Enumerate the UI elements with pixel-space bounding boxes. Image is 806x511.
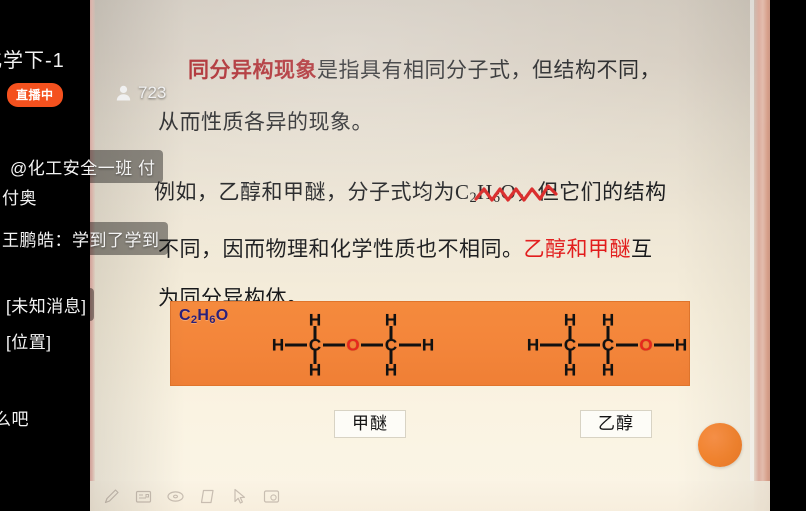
keyword-isomerism: 同分异构现象 — [188, 58, 317, 82]
label-dimethyl-ether: 甲醚 — [334, 410, 406, 438]
atom-c: C — [564, 337, 576, 354]
atom-c: C — [309, 337, 321, 354]
atom-h: H — [309, 312, 321, 329]
page-title: 化学下-1 — [0, 44, 150, 73]
cursor-icon[interactable] — [230, 487, 249, 506]
atom-h: H — [272, 337, 284, 354]
page-right-rule — [754, 0, 770, 511]
p2-l1-c: O，但它们的结构 — [500, 180, 666, 204]
atom-c: C — [602, 337, 614, 354]
paragraph-1-line-1-rest: 是指具有相同分子式，但结构不同， — [317, 58, 661, 82]
chat-message: [位置] — [0, 324, 59, 357]
label-ethanol: 乙醇 — [580, 410, 652, 438]
bond-h-left-2 — [323, 344, 345, 347]
paragraph-1-line-2: 从而性质各异的现象。 — [158, 94, 373, 151]
viewer-count-value: 723 — [138, 83, 166, 103]
ethanol-structure: H C C O H H H H H — [526, 302, 686, 387]
bond-h-right-4 — [654, 344, 674, 347]
text-note-icon[interactable] — [134, 487, 153, 506]
screenshot-icon[interactable] — [262, 487, 281, 506]
formula-c: C — [179, 307, 191, 324]
chat-message: @化工安全一班 付 — [2, 150, 163, 183]
chat-message: 么吧 — [0, 398, 45, 437]
formula-o: O — [216, 307, 229, 324]
atom-o: O — [346, 337, 359, 354]
paragraph-2-line-1: 例如，乙醇和甲醚，分子式均为C2H6O，但它们的结构 — [154, 164, 667, 227]
floating-action-button[interactable] — [698, 423, 742, 467]
bond-h-right-1 — [540, 344, 562, 347]
atom-h: H — [527, 337, 539, 354]
molecular-formula-label: C2H6O — [179, 307, 229, 326]
p2-l1-a: 例如，乙醇和甲醚，分子式均为C — [154, 180, 470, 204]
atom-h: H — [675, 337, 687, 354]
dimethyl-ether-structure: H C O C H H H H H — [271, 302, 446, 387]
chat-message: 付奥 — [0, 180, 45, 213]
chat-message: 王鹏皓：学到了学到 — [0, 222, 168, 255]
viewer-count: 723 — [116, 83, 166, 103]
atom-c: C — [385, 337, 397, 354]
atom-o: O — [639, 337, 652, 354]
molecule-structure-panel: C2H6O H C O C H H H — [170, 301, 690, 386]
atom-h: H — [309, 362, 321, 379]
shape-icon[interactable] — [198, 487, 217, 506]
p2-l2-a: 不同，因而物理和化学性质也不相同。 — [158, 237, 524, 261]
p2-l1-sub-2: 2 — [470, 190, 478, 206]
pen-icon[interactable] — [102, 487, 121, 506]
atom-h: H — [385, 312, 397, 329]
eraser-icon[interactable] — [166, 487, 185, 506]
formula-h: H — [197, 307, 209, 324]
live-status-badge: 直播中 — [7, 83, 63, 107]
live-class-screen: 同分异构现象是指具有相同分子式，但结构不同， 从而性质各异的现象。 例如，乙醇和… — [0, 0, 806, 511]
atom-h: H — [385, 362, 397, 379]
atom-h: H — [602, 362, 614, 379]
p2-l2-b: 互 — [631, 237, 653, 261]
p2-l1-b: H — [477, 180, 493, 204]
person-icon — [116, 85, 131, 101]
atom-h: H — [564, 362, 576, 379]
atom-h: H — [564, 312, 576, 329]
highlight-ethanol-ether: 乙醇和甲醚 — [524, 237, 632, 261]
slide-canvas[interactable]: 同分异构现象是指具有相同分子式，但结构不同， 从而性质各异的现象。 例如，乙醇和… — [90, 0, 770, 511]
bond-h-left-3 — [361, 344, 383, 347]
bond-h-left-1 — [285, 344, 307, 347]
atom-h: H — [422, 337, 434, 354]
annotation-toolbar[interactable] — [90, 481, 770, 511]
bond-h-right-3 — [616, 344, 638, 347]
bond-h-right-2 — [578, 344, 600, 347]
paragraph-1-line-1: 同分异构现象是指具有相同分子式，但结构不同， — [188, 42, 661, 99]
bond-h-left-4 — [399, 344, 421, 347]
chat-message: [未知消息] — [0, 288, 94, 321]
atom-h: H — [602, 312, 614, 329]
